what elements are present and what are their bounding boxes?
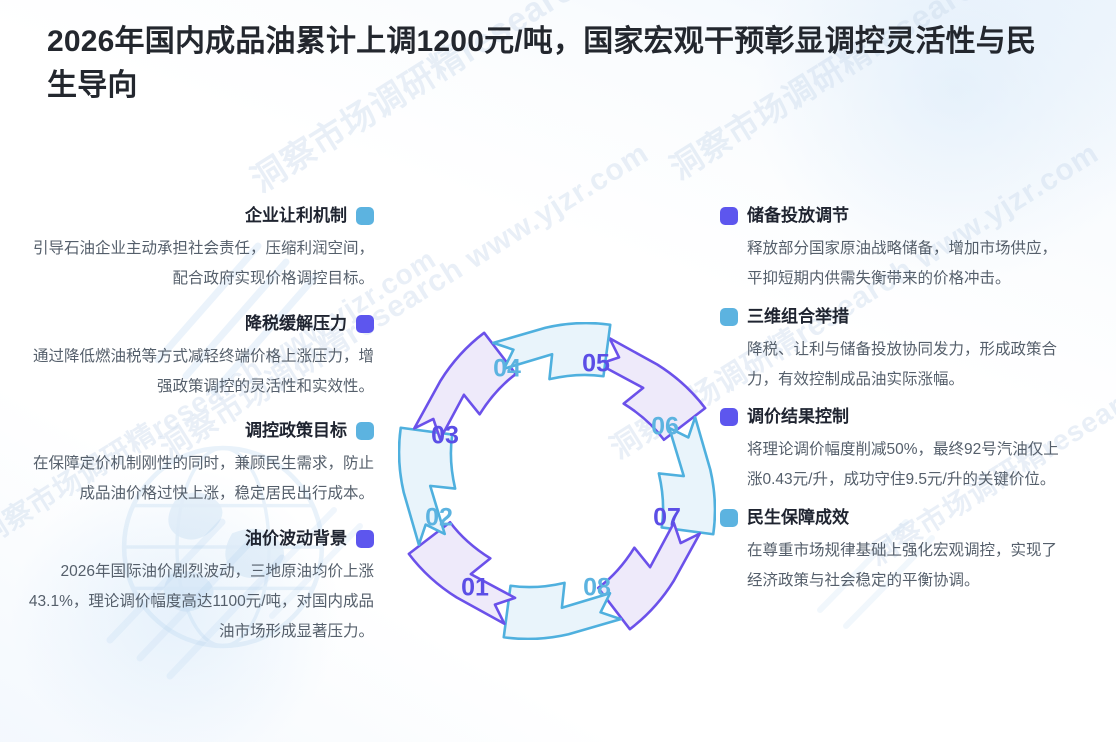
right-item-0-label: 储备投放调节: [747, 205, 849, 227]
left-item-0[interactable]: 企业让利机制 引导石油企业主动承担社会责任，压缩利润空间，配合政府实现价格调控目…: [24, 205, 374, 295]
left-item-2-label: 调控政策目标: [245, 420, 347, 442]
right-item-0-heading: 储备投放调节: [720, 205, 1072, 227]
left-item-2-heading: 调控政策目标: [24, 420, 374, 442]
right-item-1-heading: 三维组合举措: [720, 306, 1072, 328]
right-item-0-body: 释放部分国家原油战略储备，增加市场供应，平抑短期内供需失衡带来的价格冲击。: [720, 234, 1072, 294]
left-item-3-heading: 油价波动背景: [24, 528, 374, 550]
marker-square-icon: [720, 509, 738, 527]
left-item-3[interactable]: 油价波动背景 2026年国际油价剧烈波动，三地原油均价上涨43.1%，理论调价幅…: [24, 528, 374, 648]
ring-label-07: 07: [653, 504, 681, 532]
marker-square-icon: [356, 315, 374, 333]
right-column: 储备投放调节 释放部分国家原油战略储备，增加市场供应，平抑短期内供需失衡带来的价…: [720, 205, 1072, 600]
right-item-3-label: 民生保障成效: [747, 507, 849, 529]
left-item-1-label: 降税缓解压力: [245, 313, 347, 335]
left-item-3-body: 2026年国际油价剧烈波动，三地原油均价上涨43.1%，理论调价幅度高达1100…: [24, 557, 374, 648]
right-item-2[interactable]: 调价结果控制 将理论调价幅度削减50%，最终92号汽油仅上涨0.43元/升，成功…: [720, 406, 1072, 496]
right-item-0[interactable]: 储备投放调节 释放部分国家原油战略储备，增加市场供应，平抑短期内供需失衡带来的价…: [720, 205, 1072, 295]
marker-square-icon: [720, 308, 738, 326]
marker-square-icon: [356, 422, 374, 440]
left-item-0-heading: 企业让利机制: [24, 205, 374, 227]
cycle-ring-diagram: 01 02 03 04 05 06 07 08: [398, 322, 716, 640]
left-item-3-label: 油价波动背景: [245, 528, 347, 550]
infographic-canvas: 洞察市场调研精research www.yjzr.com 洞察市场调研精rese…: [0, 0, 1116, 742]
marker-square-icon: [356, 530, 374, 548]
left-item-1[interactable]: 降税缓解压力 通过降低燃油税等方式减轻终端价格上涨压力，增强政策调控的灵活性和实…: [24, 313, 374, 403]
left-item-0-body: 引导石油企业主动承担社会责任，压缩利润空间，配合政府实现价格调控目标。: [24, 234, 374, 294]
ring-label-03: 03: [431, 422, 459, 450]
ring-label-04: 04: [493, 355, 521, 383]
ring-label-02: 02: [425, 504, 453, 532]
left-item-0-label: 企业让利机制: [245, 205, 347, 227]
ring-label-05: 05: [582, 350, 610, 378]
left-item-2-body: 在保障定价机制刚性的同时，兼顾民生需求，防止成品油价格过快上涨，稳定居民出行成本…: [24, 449, 374, 509]
right-item-1-body: 降税、让利与储备投放协同发力，形成政策合力，有效控制成品油实际涨幅。: [720, 335, 1072, 395]
left-item-1-body: 通过降低燃油税等方式减轻终端价格上涨压力，增强政策调控的灵活性和实效性。: [24, 342, 374, 402]
right-item-2-label: 调价结果控制: [747, 406, 849, 428]
marker-square-icon: [720, 207, 738, 225]
right-item-2-heading: 调价结果控制: [720, 406, 1072, 428]
left-column: 企业让利机制 引导石油企业主动承担社会责任，压缩利润空间，配合政府实现价格调控目…: [24, 205, 374, 651]
right-item-1[interactable]: 三维组合举措 降税、让利与储备投放协同发力，形成政策合力，有效控制成品油实际涨幅…: [720, 306, 1072, 396]
right-item-1-label: 三维组合举措: [747, 306, 849, 328]
marker-square-icon: [720, 408, 738, 426]
right-item-2-body: 将理论调价幅度削减50%，最终92号汽油仅上涨0.43元/升，成功守住9.5元/…: [720, 435, 1072, 495]
left-item-2[interactable]: 调控政策目标 在保障定价机制刚性的同时，兼顾民生需求，防止成品油价格过快上涨，稳…: [24, 420, 374, 510]
right-item-3-body: 在尊重市场规律基础上强化宏观调控，实现了经济政策与社会稳定的平衡协调。: [720, 536, 1072, 596]
ring-label-01: 01: [461, 574, 489, 602]
right-item-3[interactable]: 民生保障成效 在尊重市场规律基础上强化宏观调控，实现了经济政策与社会稳定的平衡协…: [720, 507, 1072, 597]
ring-label-06: 06: [651, 413, 679, 441]
left-item-1-heading: 降税缓解压力: [24, 313, 374, 335]
right-item-3-heading: 民生保障成效: [720, 507, 1072, 529]
marker-square-icon: [356, 207, 374, 225]
page-title: 2026年国内成品油累计上调1200元/吨，国家宏观干预彰显调控灵活性与民生导向: [47, 20, 1057, 108]
ring-label-08: 08: [583, 574, 611, 602]
